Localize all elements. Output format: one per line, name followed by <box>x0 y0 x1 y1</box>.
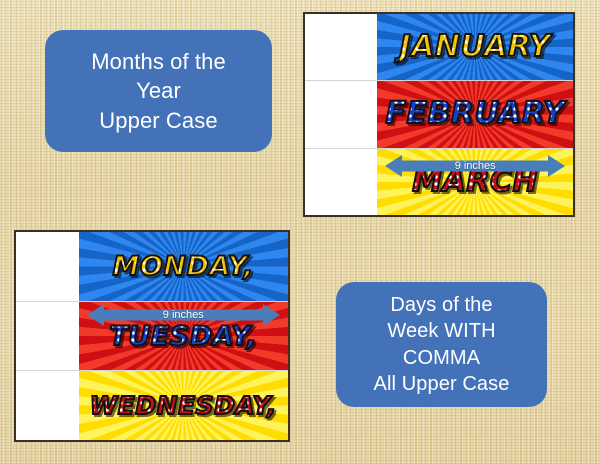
row-color-strip: 9 inches TUESDAY, <box>79 302 288 371</box>
poster-canvas: Months of the Year Upper Case JANUARY FE… <box>0 0 600 464</box>
row-color-strip: WEDNESDAY, <box>79 371 288 440</box>
days-flashcard-sheet: MONDAY, 9 inches TUESDAY, WEDNESDAY, <box>14 230 290 442</box>
months-caption-line-2: Year <box>136 76 181 105</box>
row-left-margin <box>16 371 79 440</box>
flashcard-row: JANUARY <box>305 14 573 81</box>
day-label-tuesday: TUESDAY, <box>109 323 257 350</box>
row-left-margin <box>16 232 79 301</box>
month-label-january: JANUARY <box>400 32 551 62</box>
day-label-wednesday: WEDNESDAY, <box>90 393 277 418</box>
width-measurement-arrow: 9 inches <box>385 155 565 177</box>
row-left-margin <box>305 149 377 215</box>
row-color-strip: 9 inches MARCH <box>377 149 573 215</box>
days-caption-line-4: All Upper Case <box>374 371 510 397</box>
width-measurement-arrow: 9 inches <box>87 304 280 326</box>
measurement-label: 9 inches <box>455 160 496 172</box>
day-label-monday: MONDAY, <box>113 253 254 280</box>
row-color-strip: JANUARY <box>377 14 573 80</box>
days-caption-line-3: COMMA <box>403 345 480 371</box>
months-caption-line-3: Upper Case <box>99 106 217 135</box>
flashcard-row: 9 inches TUESDAY, <box>16 302 288 372</box>
flashcard-row: FEBRUARY <box>305 81 573 148</box>
days-caption-line-2: Week WITH <box>387 318 495 344</box>
months-flashcard-sheet: JANUARY FEBRUARY 9 inches MARCH <box>303 12 575 217</box>
row-left-margin <box>305 81 377 147</box>
flashcard-row: WEDNESDAY, <box>16 371 288 440</box>
days-caption-box: Days of the Week WITH COMMA All Upper Ca… <box>336 282 547 407</box>
months-caption-line-1: Months of the <box>91 47 226 76</box>
months-caption-box: Months of the Year Upper Case <box>45 30 272 152</box>
arrow-head-left-icon <box>385 155 402 177</box>
flashcard-row: 9 inches MARCH <box>305 149 573 215</box>
days-caption-line-1: Days of the <box>390 292 492 318</box>
row-color-strip: MONDAY, <box>79 232 288 301</box>
row-left-margin <box>305 14 377 80</box>
flashcard-row: MONDAY, <box>16 232 288 302</box>
arrow-head-right-icon <box>263 304 280 326</box>
row-left-margin <box>16 302 79 371</box>
arrow-head-left-icon <box>87 304 104 326</box>
row-color-strip: FEBRUARY <box>377 81 573 147</box>
measurement-label: 9 inches <box>163 309 204 321</box>
month-label-february: FEBRUARY <box>386 99 565 129</box>
arrow-head-right-icon <box>548 155 565 177</box>
